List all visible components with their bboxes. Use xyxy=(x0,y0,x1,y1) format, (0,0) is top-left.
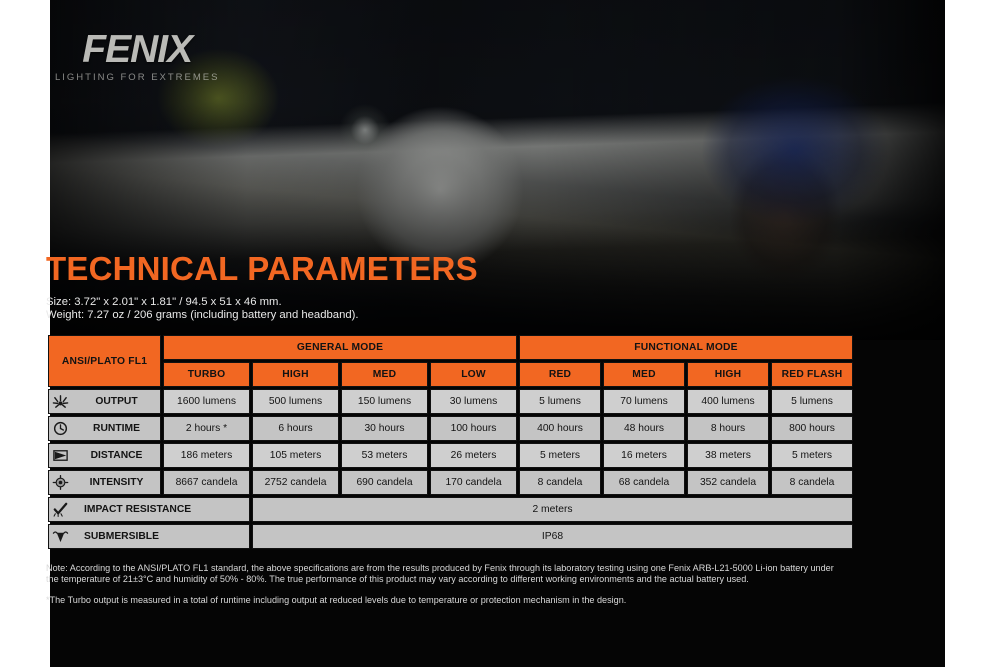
beam-icon xyxy=(51,447,70,464)
group-header-general: GENERAL MODE xyxy=(163,335,517,360)
column-header-high: HIGH xyxy=(252,362,339,387)
cell-runtime-fn-med: 48 hours xyxy=(603,416,685,441)
cell-runtime-turbo: 2 hours * xyxy=(163,416,250,441)
column-header-red: RED xyxy=(519,362,601,387)
cell-intensity-red-flash: 8 candela xyxy=(771,470,853,495)
table-row: IMPACT RESISTANCE 2 meters xyxy=(48,497,853,522)
cell-distance-red: 5 meters xyxy=(519,443,601,468)
cell-distance-fn-high: 38 meters xyxy=(687,443,769,468)
table-row: SUBMERSIBLE IP68 xyxy=(48,524,853,549)
cell-intensity-fn-med: 68 candela xyxy=(603,470,685,495)
row-label-text: DISTANCE xyxy=(75,450,158,461)
clock-icon xyxy=(51,420,70,437)
cell-output-red: 5 lumens xyxy=(519,389,601,414)
cell-intensity-low: 170 candela xyxy=(430,470,517,495)
cell-intensity-med: 690 candela xyxy=(341,470,428,495)
cell-distance-high: 105 meters xyxy=(252,443,339,468)
row-label-text: IMPACT RESISTANCE xyxy=(75,504,247,515)
table-header-group-row: ANSI/PLATO FL1 GENERAL MODE FUNCTIONAL M… xyxy=(48,335,853,360)
size-line: Size: 3.72" x 2.01" x 1.81" / 94.5 x 51 … xyxy=(46,296,846,309)
cell-output-fn-high: 400 lumens xyxy=(687,389,769,414)
column-header-fn-high: HIGH xyxy=(687,362,769,387)
cell-intensity-fn-high: 352 candela xyxy=(687,470,769,495)
page-root: FENIX LIGHTING FOR EXTREMES TECHNICAL PA… xyxy=(0,0,1000,667)
spec-table: ANSI/PLATO FL1 GENERAL MODE FUNCTIONAL M… xyxy=(46,333,855,551)
cell-output-low: 30 lumens xyxy=(430,389,517,414)
corner-label: ANSI/PLATO FL1 xyxy=(48,335,161,387)
row-label-intensity: INTENSITY xyxy=(48,470,161,495)
row-label-text: OUTPUT xyxy=(75,396,158,407)
note-main: Note: According to the ANSI/PLATO FL1 st… xyxy=(46,563,846,584)
sunburst-icon xyxy=(51,393,70,410)
cell-runtime-high: 6 hours xyxy=(252,416,339,441)
cell-distance-red-flash: 5 meters xyxy=(771,443,853,468)
content-area: TECHNICAL PARAMETERS Size: 3.72" x 2.01"… xyxy=(46,0,846,605)
target-icon xyxy=(51,474,70,491)
row-label-submersible: SUBMERSIBLE xyxy=(48,524,250,549)
cell-impact-resistance-value: 2 meters xyxy=(252,497,853,522)
cell-runtime-red-flash: 800 hours xyxy=(771,416,853,441)
row-label-distance: DISTANCE xyxy=(48,443,161,468)
cell-distance-low: 26 meters xyxy=(430,443,517,468)
cell-intensity-turbo: 8667 candela xyxy=(163,470,250,495)
table-row: OUTPUT 1600 lumens 500 lumens 150 lumens… xyxy=(48,389,853,414)
cell-distance-turbo: 186 meters xyxy=(163,443,250,468)
cell-output-red-flash: 5 lumens xyxy=(771,389,853,414)
cell-runtime-red: 400 hours xyxy=(519,416,601,441)
column-header-fn-med: MED xyxy=(603,362,685,387)
cell-distance-fn-med: 16 meters xyxy=(603,443,685,468)
note-turbo: *The Turbo output is measured in a total… xyxy=(46,595,846,606)
cell-intensity-high: 2752 candela xyxy=(252,470,339,495)
column-header-low: LOW xyxy=(430,362,517,387)
cell-distance-med: 53 meters xyxy=(341,443,428,468)
weight-line: Weight: 7.27 oz / 206 grams (including b… xyxy=(46,309,846,322)
cell-output-high: 500 lumens xyxy=(252,389,339,414)
notes-block: Note: According to the ANSI/PLATO FL1 st… xyxy=(46,563,846,605)
cell-output-med: 150 lumens xyxy=(341,389,428,414)
impact-icon xyxy=(51,501,70,518)
table-row: DISTANCE 186 meters 105 meters 53 meters… xyxy=(48,443,853,468)
cell-runtime-fn-high: 8 hours xyxy=(687,416,769,441)
cell-submersible-value: IP68 xyxy=(252,524,853,549)
row-label-text: SUBMERSIBLE xyxy=(75,531,247,542)
row-label-text: RUNTIME xyxy=(75,423,158,434)
column-header-med: MED xyxy=(341,362,428,387)
droplet-icon xyxy=(51,528,70,545)
group-header-functional: FUNCTIONAL MODE xyxy=(519,335,853,360)
row-label-text: INTENSITY xyxy=(75,477,158,488)
row-label-output: OUTPUT xyxy=(48,389,161,414)
table-header-columns-row: TURBO HIGH MED LOW RED MED HIGH RED FLAS… xyxy=(48,362,853,387)
cell-output-turbo: 1600 lumens xyxy=(163,389,250,414)
row-label-impact-resistance: IMPACT RESISTANCE xyxy=(48,497,250,522)
cell-runtime-med: 30 hours xyxy=(341,416,428,441)
cell-output-fn-med: 70 lumens xyxy=(603,389,685,414)
row-label-runtime: RUNTIME xyxy=(48,416,161,441)
column-header-turbo: TURBO xyxy=(163,362,250,387)
table-row: RUNTIME 2 hours * 6 hours 30 hours 100 h… xyxy=(48,416,853,441)
size-weight-info: Size: 3.72" x 2.01" x 1.81" / 94.5 x 51 … xyxy=(46,296,846,322)
cell-intensity-red: 8 candela xyxy=(519,470,601,495)
cell-runtime-low: 100 hours xyxy=(430,416,517,441)
page-title: TECHNICAL PARAMETERS xyxy=(46,252,846,285)
table-row: INTENSITY 8667 candela 2752 candela 690 … xyxy=(48,470,853,495)
column-header-red-flash: RED FLASH xyxy=(771,362,853,387)
